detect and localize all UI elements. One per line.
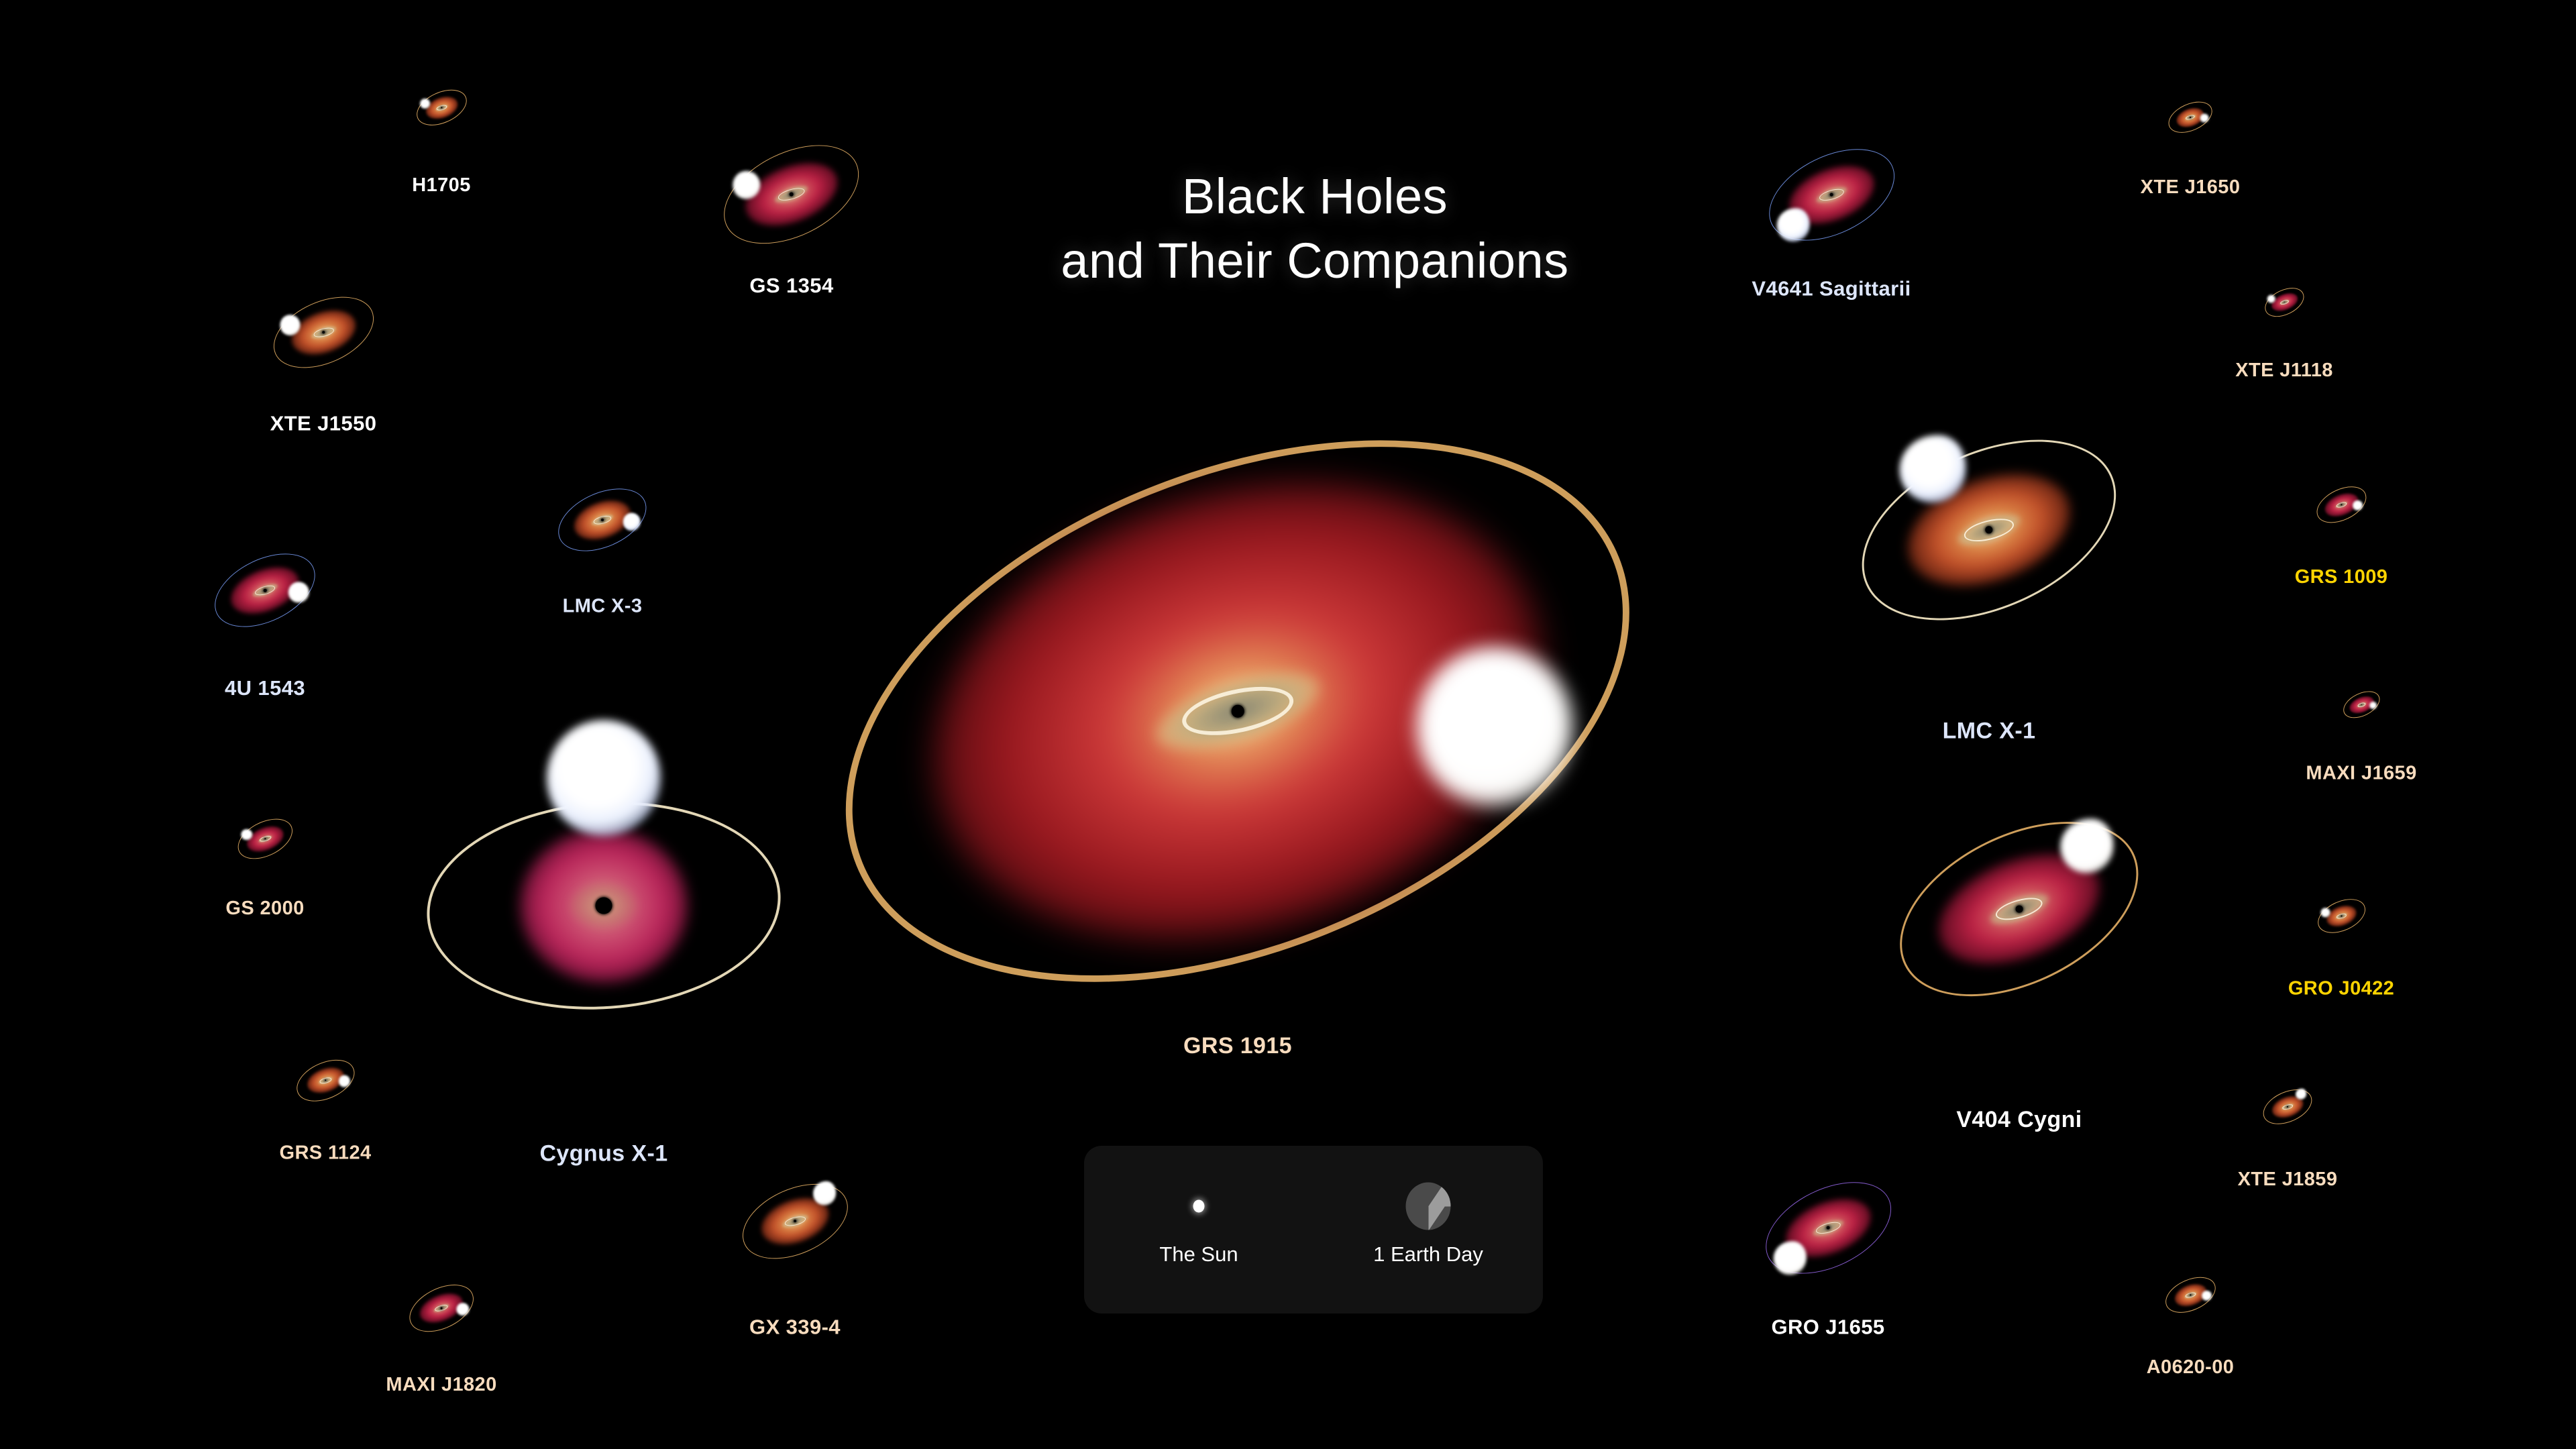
system-maxi-j1659[interactable]: MAXI J1659 (2339, 682, 2384, 727)
system-label-gro-j1655: GRO J1655 (1771, 1315, 1884, 1339)
companion-star (1776, 208, 1809, 241)
companion-star (1773, 1241, 1806, 1275)
system-label-xte-j1118: XTE J1118 (2235, 360, 2333, 382)
system-xte-j1859[interactable]: XTE J1859 (2257, 1077, 2318, 1137)
system-illustration (1752, 115, 1911, 274)
system-maxi-j1820[interactable]: MAXI J1820 (401, 1268, 482, 1348)
companion-star (2369, 702, 2377, 709)
system-label-v4641: V4641 Sagittarii (1752, 276, 1911, 301)
system-illustration (394, 696, 814, 1116)
black-hole (1232, 705, 1244, 718)
legend-label-the-sun: The Sun (1084, 1242, 1313, 1267)
system-illustration (1868, 758, 2170, 1060)
system-illustration (2310, 474, 2373, 536)
companion-star (241, 829, 252, 841)
starfield-canvas: Black Holes and Their Companions H1705GS… (0, 0, 2576, 1449)
system-gro-j0422[interactable]: GRO J0422 (2312, 886, 2371, 945)
legend-item-one-earth-day: 1 Earth Day (1313, 1146, 1543, 1313)
black-hole (2190, 117, 2191, 118)
system-label-xte-j1550: XTE J1550 (270, 411, 377, 435)
system-label-xte-j1650: XTE J1650 (2141, 176, 2241, 199)
system-label-maxi-j1659: MAXI J1659 (2306, 762, 2416, 784)
companion-star (2200, 114, 2209, 123)
system-v4641[interactable]: V4641 Sagittarii (1752, 115, 1911, 274)
legend-label-one-earth-day: 1 Earth Day (1313, 1242, 1543, 1267)
companion-star (623, 513, 640, 531)
companion-star (2060, 819, 2113, 873)
companion-star (733, 171, 760, 199)
system-label-a0620-00: A0620-00 (2147, 1356, 2235, 1379)
system-illustration (2163, 91, 2217, 144)
system-illustration (1830, 371, 2149, 690)
system-label-cygnus-x1: Cygnus X-1 (539, 1140, 667, 1167)
system-xte-j1650[interactable]: XTE J1650 (2163, 91, 2217, 144)
black-hole (2361, 704, 2362, 705)
black-hole (596, 898, 612, 914)
sun-dot-icon (1193, 1200, 1205, 1213)
black-hole (441, 1307, 443, 1309)
system-illustration (1748, 1148, 1908, 1307)
black-hole (1829, 193, 1833, 197)
legend-item-the-sun: The Sun (1084, 1146, 1313, 1313)
scale-legend: The Sun 1 Earth Day (1084, 1146, 1543, 1313)
companion-star (288, 582, 309, 603)
companion-star (280, 315, 301, 335)
system-grs1915[interactable]: GRS 1915 (751, 225, 1724, 1197)
black-hole (1826, 1226, 1830, 1230)
system-label-4u1543: 4U 1543 (225, 676, 305, 700)
black-hole (264, 589, 267, 592)
system-label-v404: V404 Cygni (1956, 1107, 2082, 1133)
system-illustration (2312, 886, 2371, 945)
system-illustration (231, 804, 300, 873)
system-illustration (2257, 1077, 2318, 1137)
system-grs1124[interactable]: GRS 1124 (289, 1044, 362, 1116)
system-illustration (2260, 278, 2309, 327)
system-a0620-00[interactable]: A0620-00 (2159, 1264, 2222, 1326)
system-label-lmc-x1: LMC X-1 (1943, 718, 2036, 744)
system-label-grs1124: GRS 1124 (279, 1142, 371, 1164)
system-illustration (260, 269, 386, 395)
companion-star (420, 99, 430, 109)
system-lmc-x1[interactable]: LMC X-1 (1830, 371, 2149, 690)
system-xte-j1550[interactable]: XTE J1550 (260, 269, 386, 395)
system-label-gro-j0422: GRO J0422 (2288, 977, 2394, 1000)
system-label-gs2000: GS 2000 (225, 898, 304, 920)
system-label-h1705: H1705 (412, 174, 470, 197)
system-label-lmc-x3: LMC X-3 (563, 595, 643, 617)
system-gro-j1655[interactable]: GRO J1655 (1748, 1148, 1908, 1307)
companion-star (1900, 435, 1966, 502)
companion-star (2267, 295, 2275, 303)
system-illustration (547, 465, 658, 576)
system-label-xte-j1859: XTE J1859 (2238, 1169, 2338, 1191)
system-label-maxi-j1820: MAXI J1820 (386, 1374, 496, 1396)
black-hole (2284, 301, 2285, 303)
system-v404[interactable]: V404 Cygni (1868, 758, 2170, 1060)
system-grs1009[interactable]: GRS 1009 (2310, 474, 2373, 536)
system-label-grs1009: GRS 1009 (2295, 566, 2388, 588)
companion-star (1417, 647, 1572, 806)
companion-star (2296, 1089, 2306, 1099)
companion-star (2353, 500, 2363, 511)
black-hole (2016, 906, 2023, 913)
system-label-gx339-4: GX 339-4 (749, 1315, 841, 1339)
system-illustration (289, 1044, 362, 1116)
companion-star (456, 1303, 469, 1316)
system-label-grs1915: GRS 1915 (1183, 1033, 1292, 1059)
black-hole (794, 1220, 797, 1223)
black-hole (601, 519, 604, 521)
system-illustration (401, 1268, 482, 1348)
system-gs2000[interactable]: GS 2000 (231, 804, 300, 873)
system-illustration (2159, 1264, 2222, 1326)
black-hole (325, 1079, 327, 1081)
system-illustration (2339, 682, 2384, 727)
system-illustration (201, 527, 329, 654)
system-4u1543[interactable]: 4U 1543 (201, 527, 329, 654)
black-hole (322, 331, 325, 334)
companion-star (547, 720, 661, 836)
companion-star (2202, 1291, 2212, 1301)
system-xte-j1118[interactable]: XTE J1118 (2260, 278, 2309, 327)
pie-clock-icon (1406, 1183, 1451, 1230)
system-illustration (411, 76, 473, 139)
companion-star (339, 1075, 350, 1087)
system-cygnus-x1[interactable]: Cygnus X-1 (394, 696, 814, 1116)
system-h1705[interactable]: H1705 (411, 76, 473, 139)
system-lmc-x3[interactable]: LMC X-3 (547, 465, 658, 576)
